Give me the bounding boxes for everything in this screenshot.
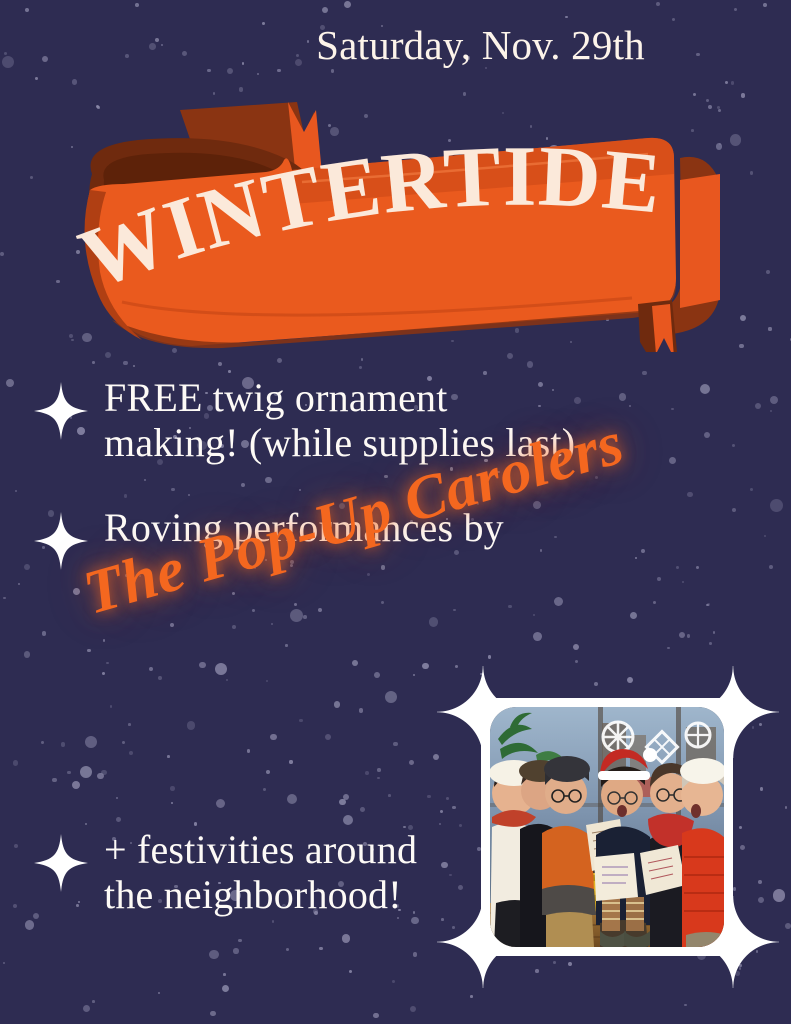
feature-item-festivities: + festivities around the neighborhood!: [34, 828, 417, 918]
sparkle-star-icon: [34, 834, 88, 897]
photo-white-border: [481, 698, 733, 956]
feature-item-label: + festivities around the neighborhood!: [104, 828, 417, 918]
caroler-6: [680, 758, 724, 947]
carolers-photo: [490, 707, 724, 947]
wintertide-ribbon-banner: WINTERTIDE!: [52, 62, 752, 352]
sparkle-star-icon: [34, 382, 88, 445]
wintertide-event-poster: Saturday, Nov. 29th: [0, 0, 791, 1024]
caroler-4: [594, 748, 657, 947]
carolers-photo-frame: [443, 672, 773, 982]
